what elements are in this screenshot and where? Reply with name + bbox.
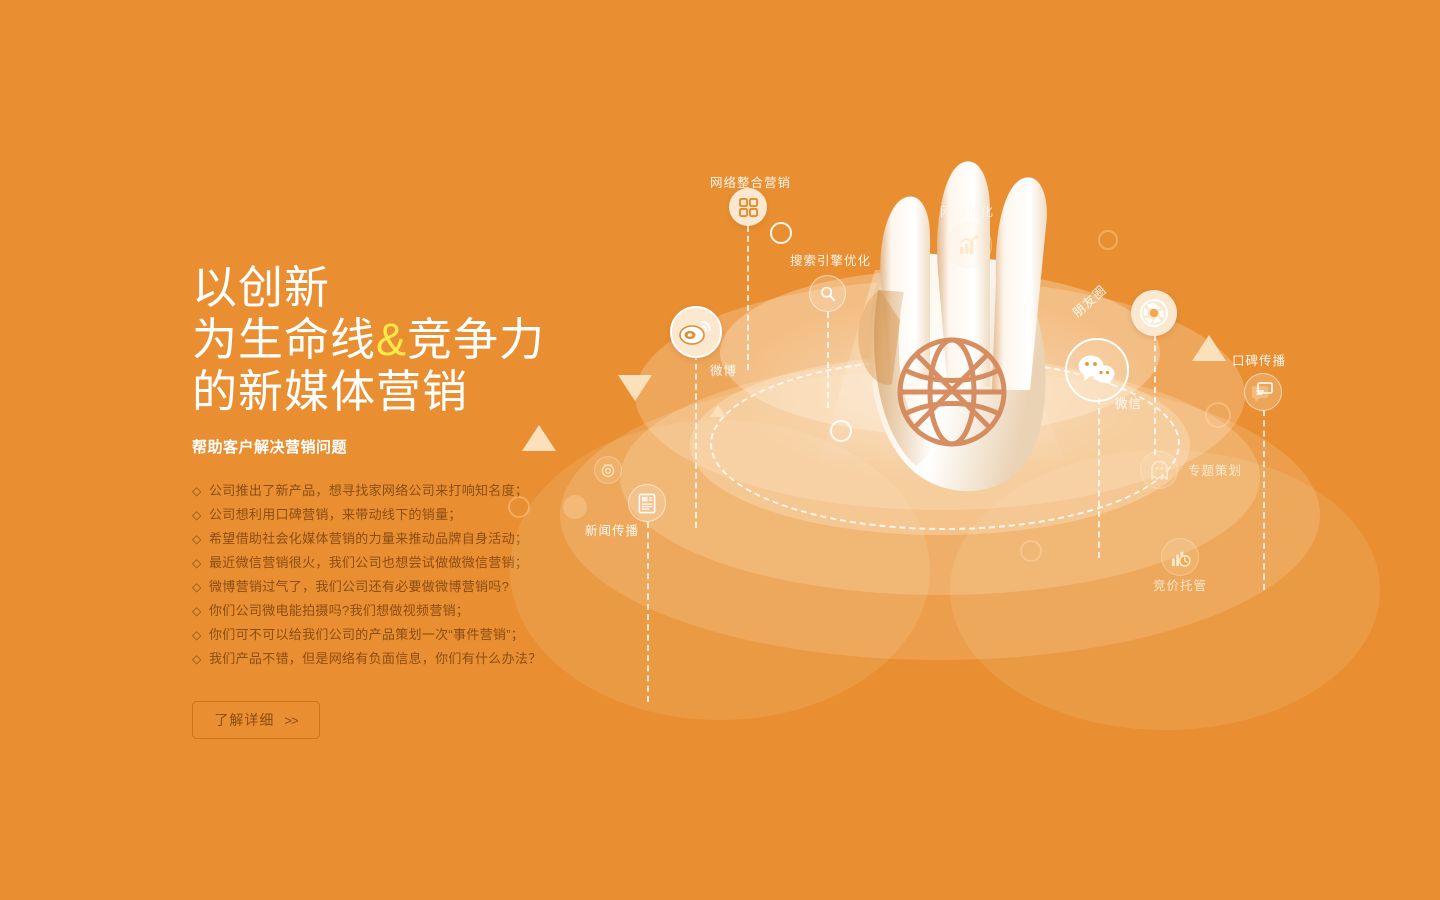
node-label-bidding-hosting: 竞价托管 bbox=[1153, 575, 1207, 594]
weibo-icon bbox=[679, 319, 713, 345]
list-item-label: 希望借助社会化媒体营销的力量来推动品牌自身活动； bbox=[209, 527, 528, 551]
outline-circle-decoration bbox=[770, 222, 792, 244]
list-item-label: 公司推出了新产品，想寻找家网络公司来打响知名度； bbox=[209, 479, 528, 503]
learn-more-label: 了解详细 bbox=[214, 710, 274, 730]
list-item-label: 微博营销过气了，我们公司还有必要做微博营销吗? bbox=[209, 575, 509, 599]
node-weibo[interactable] bbox=[670, 306, 722, 358]
diamond-bullet-icon: ◇ bbox=[192, 551, 209, 575]
faint-circle-decoration bbox=[1205, 402, 1231, 428]
node-site-optimization[interactable] bbox=[946, 222, 992, 268]
triangle-up-decoration bbox=[1192, 335, 1226, 361]
diamond-bullet-icon: ◇ bbox=[192, 575, 209, 599]
node-integrated-marketing[interactable] bbox=[729, 188, 767, 226]
node-news-spread[interactable] bbox=[628, 484, 666, 522]
list-item-label: 你们公司微电能拍摄吗?我们想做视频营销； bbox=[209, 599, 469, 623]
diamond-bullet-icon: ◇ bbox=[192, 647, 209, 671]
diamond-bullet-icon: ◇ bbox=[192, 623, 209, 647]
node-label-word-of-mouth: 口碑传播 bbox=[1232, 350, 1286, 369]
marketing-services-illustration: 网络整合营销 搜索引擎优化 网站优化 bbox=[520, 120, 1440, 740]
hero-banner: 以创新 为生命线&竞争力 的新媒体营销 帮助客户解决营销问题 ◇ 公司推出了新产… bbox=[0, 0, 1440, 900]
aperture-icon bbox=[1139, 298, 1169, 328]
connector-line-news bbox=[647, 522, 649, 702]
diamond-bullet-icon: ◇ bbox=[192, 599, 209, 623]
chat-bubbles-icon bbox=[1252, 382, 1274, 402]
node-topic-planning[interactable] bbox=[1140, 451, 1178, 489]
list-item-label: 你们可不可以给我们公司的产品策划一次“事件营销”； bbox=[209, 623, 524, 647]
ghost-icon bbox=[1150, 460, 1169, 481]
ampersand-accent: & bbox=[376, 314, 407, 365]
node-label-news-spread: 新闻传播 bbox=[585, 520, 639, 539]
triangle-up-small-decoration bbox=[710, 405, 726, 417]
diamond-bullet-icon: ◇ bbox=[192, 503, 209, 527]
diamond-bullet-icon: ◇ bbox=[192, 527, 209, 551]
target-icon bbox=[600, 462, 616, 478]
node-label-wechat: 微信 bbox=[1115, 393, 1142, 412]
connector-line-wom bbox=[1263, 410, 1265, 590]
node-label-topic-planning: 专题策划 bbox=[1188, 460, 1242, 479]
list-item-label: 最近微信营销很火，我们公司也想尝试做做微信营销； bbox=[209, 551, 528, 575]
node-word-of-mouth[interactable] bbox=[1244, 373, 1282, 411]
faint-circle-decoration bbox=[1098, 230, 1118, 250]
node-label-weibo: 微博 bbox=[710, 360, 737, 379]
connector-line-integrated bbox=[747, 226, 749, 370]
chart-clock-icon bbox=[1170, 547, 1191, 568]
list-item-label: 我们产品不错，但是网络有负面信息，你们有什么办法？ bbox=[209, 647, 542, 671]
node-moments[interactable] bbox=[1131, 290, 1177, 336]
list-item-label: 公司想利用口碑营销，来带动线下的销量； bbox=[209, 503, 462, 527]
node-seo[interactable] bbox=[809, 275, 846, 312]
bar-chart-icon bbox=[957, 233, 981, 257]
wechat-icon bbox=[1077, 354, 1117, 386]
node-decorative-target bbox=[594, 456, 622, 484]
learn-more-button[interactable]: 了解详细 >> bbox=[192, 701, 320, 739]
double-chevron-right-icon: >> bbox=[284, 713, 297, 728]
node-wechat[interactable] bbox=[1065, 338, 1129, 402]
grid-icon bbox=[739, 198, 758, 217]
headline-line-2-part-a: 为生命线 bbox=[192, 314, 376, 365]
triangle-up-decoration bbox=[522, 425, 556, 451]
filled-circle-decoration bbox=[563, 495, 587, 519]
magnifier-icon bbox=[819, 285, 837, 303]
hand-with-globe-illustration bbox=[820, 140, 1100, 560]
diamond-bullet-icon: ◇ bbox=[192, 479, 209, 503]
document-icon bbox=[637, 493, 657, 514]
triangle-down-decoration bbox=[618, 375, 652, 401]
node-bidding-hosting[interactable] bbox=[1161, 538, 1199, 576]
connector-line-moments bbox=[1154, 335, 1156, 455]
connector-line-weibo bbox=[695, 354, 697, 528]
